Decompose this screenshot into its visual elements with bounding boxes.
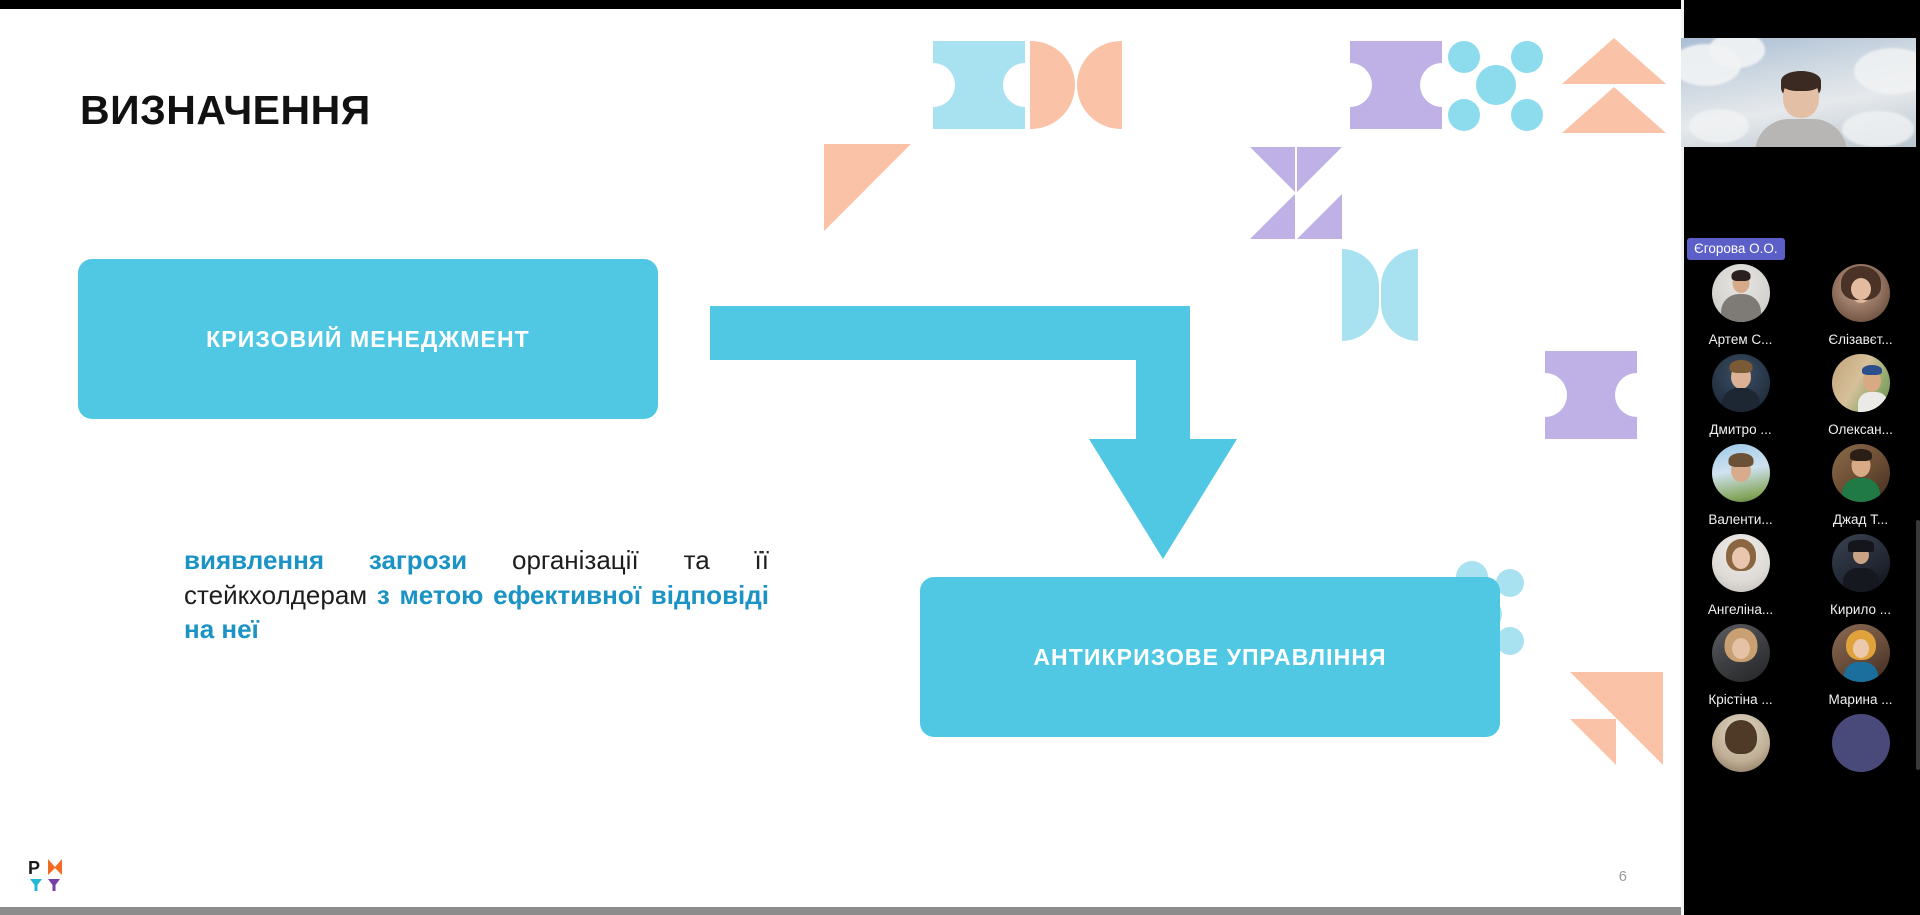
decor-triangle-peach-small	[824, 189, 866, 231]
stage-bottom-bar	[0, 907, 1681, 915]
participant-name: Валенти...	[1681, 512, 1800, 527]
stage-top-letterbox	[0, 0, 1681, 9]
participant-tile-partial[interactable]	[1801, 712, 1920, 800]
decor-pinwheel-purple	[1250, 147, 1342, 239]
flow-arrow-head-icon	[1089, 439, 1237, 559]
decor-halfcircle-peach-left	[1030, 41, 1075, 129]
decor-circle-cluster-top	[1448, 39, 1543, 131]
presentation-slide: ВИЗНАЧЕННЯ КРИЗОВИЙ МЕНЕДЖМЕНТ АНТИКРИЗО…	[0, 9, 1681, 907]
participant-name: Джад Т...	[1801, 512, 1920, 527]
process-box-crisis-management: КРИЗОВИЙ МЕНЕДЖМЕНТ	[78, 259, 658, 419]
participant-name: Дмитро ...	[1681, 422, 1800, 437]
shared-content-stage: ВИЗНАЧЕННЯ КРИЗОВИЙ МЕНЕДЖМЕНТ АНТИКРИЗО…	[0, 0, 1681, 915]
pm-logo-icon: P	[28, 857, 72, 893]
decor-triangle-peach-up-2	[1562, 87, 1666, 133]
participant-tile[interactable]: Олексан...	[1801, 352, 1920, 440]
avatar	[1832, 264, 1890, 322]
avatar	[1832, 624, 1890, 682]
avatar	[1832, 354, 1890, 412]
avatar	[1712, 264, 1770, 322]
decor-concave-square-blue	[933, 41, 1025, 129]
process-box-anticrisis-management: АНТИКРИЗОВЕ УПРАВЛІННЯ	[920, 577, 1500, 737]
avatar	[1712, 444, 1770, 502]
avatar	[1832, 534, 1890, 592]
decor-concave-square-purple-top	[1350, 41, 1442, 129]
flow-arrow-horizontal-segment	[710, 306, 1190, 360]
sidebar-scrollbar-thumb[interactable]	[1916, 520, 1920, 770]
participant-name: Кирило ...	[1801, 602, 1920, 617]
participant-tile[interactable]: Єлізавєт...	[1801, 262, 1920, 350]
avatar	[1832, 714, 1890, 772]
avatar	[1832, 444, 1890, 502]
meeting-screen-share-view: ВИЗНАЧЕННЯ КРИЗОВИЙ МЕНЕДЖМЕНТ АНТИКРИЗО…	[0, 0, 1920, 915]
decor-halfcircle-blue-right	[1381, 249, 1418, 341]
sidebar-scrollbar[interactable]	[1916, 0, 1920, 915]
participant-tile[interactable]: Джад Т...	[1801, 442, 1920, 530]
avatar	[1712, 354, 1770, 412]
avatar	[1712, 714, 1770, 772]
participant-name: Єлізавєт...	[1801, 332, 1920, 347]
decor-halfcircle-blue-left	[1342, 249, 1379, 341]
participant-name: Марина ...	[1801, 692, 1920, 707]
participant-tile[interactable]: Артем С...	[1681, 262, 1800, 350]
participant-name: Артем С...	[1681, 332, 1800, 347]
decor-halfcircle-peach-right	[1077, 41, 1122, 129]
participant-name: Крістіна ...	[1681, 692, 1800, 707]
participant-tile[interactable]: Марина ...	[1801, 622, 1920, 710]
active-speaker-video[interactable]	[1681, 38, 1920, 147]
participant-tile[interactable]: Валенти...	[1681, 442, 1800, 530]
body-text-highlight-1: виявлення загрози	[184, 545, 467, 575]
slide-page-number: 6	[1619, 868, 1627, 885]
participant-name: Ангеліна...	[1681, 602, 1800, 617]
flow-arrow-vertical-segment	[1136, 306, 1190, 441]
participants-sidebar[interactable]: Єгорова О.О. Артем С... Єлізавєт...	[1681, 0, 1920, 915]
participant-tile[interactable]: Кирило ...	[1801, 532, 1920, 620]
participant-name: Олексан...	[1801, 422, 1920, 437]
slide-body-text: виявлення загрози організації та її стей…	[184, 543, 769, 647]
slide-title: ВИЗНАЧЕННЯ	[80, 87, 371, 134]
process-box-right-label: АНТИКРИЗОВЕ УПРАВЛІННЯ	[1033, 644, 1386, 671]
active-speaker-name-badge: Єгорова О.О.	[1687, 238, 1785, 260]
decor-concave-square-purple-right	[1545, 351, 1637, 439]
participant-tile[interactable]: Крістіна ...	[1681, 622, 1800, 710]
participant-tile[interactable]: Ангеліна...	[1681, 532, 1800, 620]
svg-text:P: P	[28, 858, 40, 878]
avatar	[1712, 624, 1770, 682]
decor-triangle-peach-up-1	[1562, 38, 1666, 84]
process-box-left-label: КРИЗОВИЙ МЕНЕДЖМЕНТ	[206, 326, 530, 353]
participant-tile-partial[interactable]	[1681, 712, 1800, 800]
avatar	[1712, 534, 1770, 592]
decor-triangle-peach-br-small	[1570, 719, 1616, 765]
participant-tile[interactable]: Дмитро ...	[1681, 352, 1800, 440]
